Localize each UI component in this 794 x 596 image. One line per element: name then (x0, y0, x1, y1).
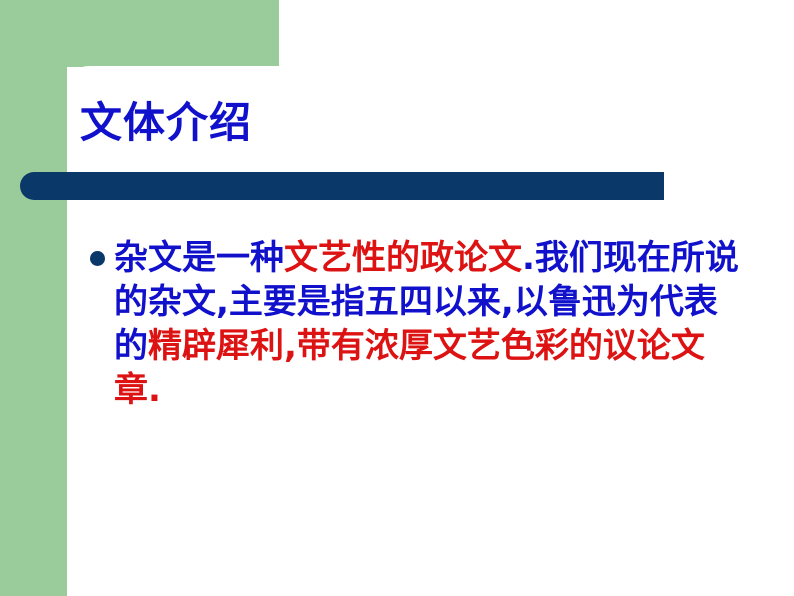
title-underline-bar (20, 172, 664, 200)
green-top-block-decoration (0, 0, 279, 67)
text-segment-2: 文艺性的政论文 (284, 238, 522, 278)
body-content-block: 杂文是一种文艺性的政论文.我们现在所说的杂文,主要是指五四以来,以鲁迅为代表的精… (90, 236, 750, 412)
green-left-band-decoration (0, 0, 67, 596)
bullet-paragraph: 杂文是一种文艺性的政论文.我们现在所说的杂文,主要是指五四以来,以鲁迅为代表的精… (114, 236, 750, 412)
bullet-dot-icon (90, 251, 105, 266)
slide-title: 文体介绍 (80, 100, 252, 146)
text-segment-1: 杂文是一种 (114, 238, 284, 278)
presentation-slide: 文体介绍 杂文是一种文艺性的政论文.我们现在所说的杂文,主要是指五四以来,以鲁迅… (0, 0, 794, 596)
text-segment-4: 精辟犀利,带有浓厚文艺色彩的议论文章. (114, 326, 705, 410)
bullet-list-item: 杂文是一种文艺性的政论文.我们现在所说的杂文,主要是指五四以来,以鲁迅为代表的精… (90, 236, 750, 412)
